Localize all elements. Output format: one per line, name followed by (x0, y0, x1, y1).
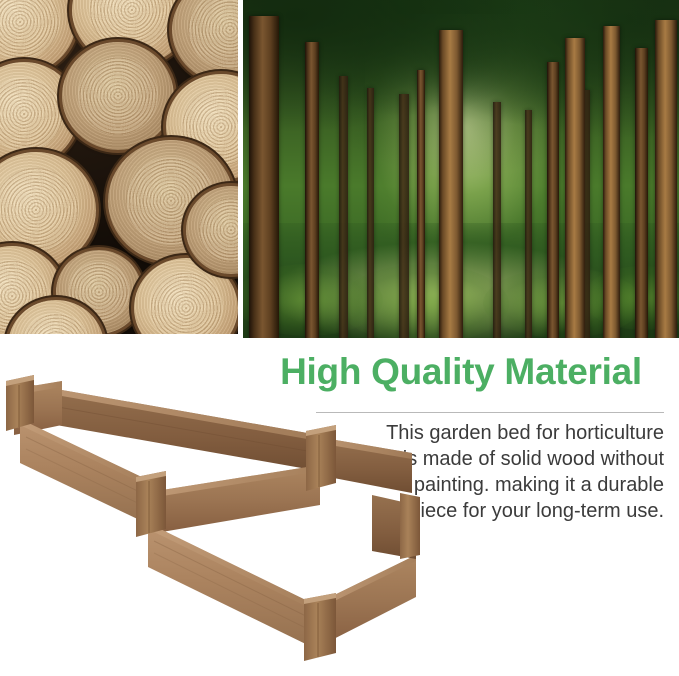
photo-strip (0, 0, 679, 338)
bed-divider-rail (156, 465, 320, 533)
bed-bottom-right-post (304, 593, 336, 661)
tree-trunk (417, 70, 425, 338)
tree-trunk (635, 48, 648, 338)
tree-trunk (493, 102, 501, 338)
bed-middle-post (136, 471, 166, 537)
tree-trunk (565, 38, 585, 338)
bed-corner-post-left (6, 375, 34, 431)
conifer-forest-photo (243, 0, 679, 338)
bed-far-right-post (400, 493, 420, 559)
bed-upper-right-post (306, 425, 336, 491)
tree-trunk (655, 20, 677, 338)
tree-trunk (339, 76, 348, 338)
tree-trunk (399, 94, 409, 338)
tree-trunk (547, 62, 559, 338)
tree-trunk (525, 110, 532, 338)
tree-trunk (367, 88, 374, 338)
tree-trunk (439, 30, 463, 338)
tree-trunk (249, 16, 279, 338)
bed-near-rail-right (148, 523, 320, 651)
stacked-logs-photo (0, 0, 238, 334)
log-circle (62, 42, 174, 150)
promo-canvas: High Quality Material This garden bed fo… (0, 0, 679, 676)
tree-trunk (305, 42, 319, 338)
tree-trunk (603, 26, 620, 338)
raised-garden-bed-illustration (0, 345, 420, 676)
